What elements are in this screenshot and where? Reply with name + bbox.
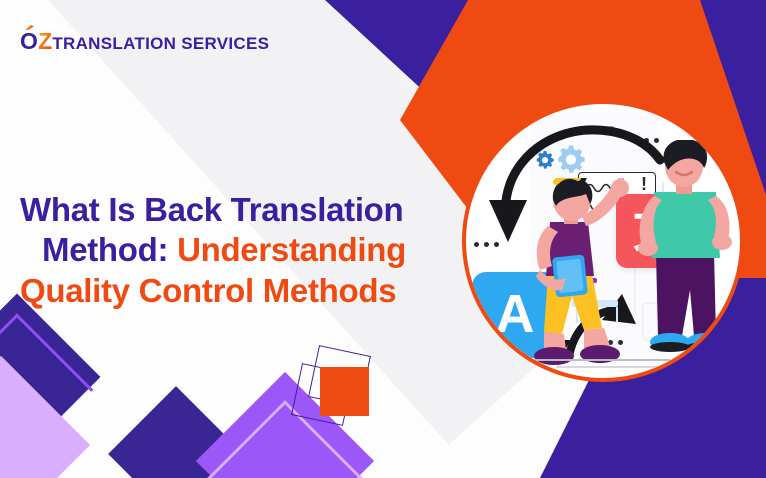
person-seated-translator	[518, 178, 638, 368]
floor-line-2	[556, 366, 676, 368]
logo-letter-o: O	[20, 30, 38, 53]
page-title: What Is Back Translation Method: Underst…	[20, 190, 460, 311]
hero-illustration: ! A 文	[462, 100, 744, 382]
illustration-canvas: ! A 文	[466, 104, 740, 378]
site-logo[interactable]: O Z TRANSLATION SERVICES	[20, 30, 269, 53]
title-line-2: Method: Understanding	[20, 230, 460, 270]
decorative-square-solid	[320, 367, 369, 416]
title-line-2-dark: Method:	[42, 231, 177, 268]
person-standing-translator	[638, 140, 740, 370]
floor-line-1	[510, 359, 670, 361]
logo-wordmark: TRANSLATION SERVICES	[52, 35, 269, 52]
blog-hero-banner: O Z TRANSLATION SERVICES What Is Back Tr…	[0, 0, 766, 478]
logo-o-text: O	[20, 28, 38, 54]
title-line-1: What Is Back Translation	[20, 190, 460, 230]
title-line-3: Quality Control Methods	[20, 271, 460, 311]
logo-letter-z: Z	[38, 30, 52, 53]
title-line-2-orange: Understanding	[177, 231, 406, 268]
